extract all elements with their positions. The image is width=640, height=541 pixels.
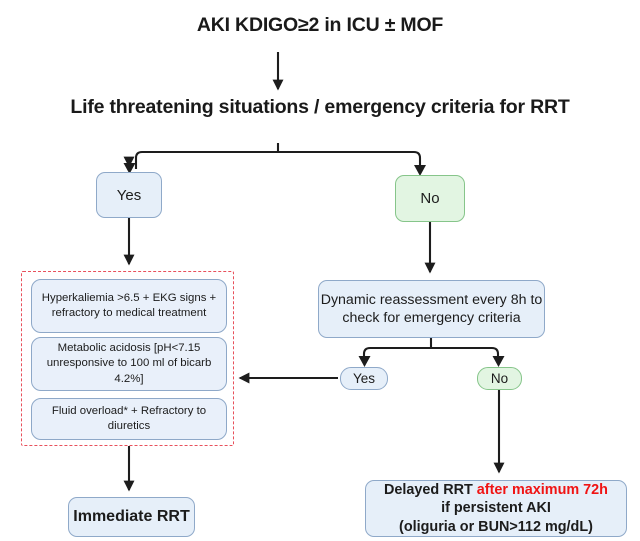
criteria-box-fluid-overload: Fluid overload* + Refractory to diuretic… [31,398,227,440]
delayed-rrt-part1: Delayed RRT [384,482,477,498]
criteria-box-hyperkaliemia: Hyperkaliemia >6.5 + EKG signs + refract… [31,279,227,333]
criteria-box-metabolic-acidosis: Metabolic acidosis [pH<7.15 unresponsive… [31,337,227,391]
delayed-rrt-part2: if persistent AKI [441,500,551,516]
flowchart-canvas: AKI KDIGO≥2 in ICU ± MOF Life threatenin… [0,0,640,541]
decision-no-upper-label: No [420,190,439,207]
criteria-label: Fluid overload* + Refractory to diuretic… [38,404,220,434]
decision-question: Life threatening situations / emergency … [70,96,570,119]
decision-no-lower-label: No [491,371,508,386]
outcome-immediate-rrt: Immediate RRT [68,497,195,537]
outcome-delayed-rrt: Delayed RRT after maximum 72h if persist… [365,480,627,537]
criteria-label: Hyperkaliemia >6.5 + EKG signs + refract… [38,291,220,321]
decision-yes-upper[interactable]: Yes [96,172,162,218]
delayed-rrt-highlight: after maximum 72h [477,482,608,498]
decision-yes-upper-label: Yes [117,187,141,204]
decision-yes-lower[interactable]: Yes [340,367,388,390]
outcome-delayed-rrt-text: Delayed RRT after maximum 72h if persist… [384,481,608,536]
decision-no-upper[interactable]: No [395,175,465,222]
delayed-rrt-part3: (oliguria or BUN>112 mg/dL) [399,519,593,535]
dynamic-reassessment-box: Dynamic reassessment every 8h to check f… [318,280,545,338]
decision-no-lower[interactable]: No [477,367,522,390]
decision-yes-lower-label: Yes [353,371,375,386]
page-title: AKI KDIGO≥2 in ICU ± MOF [0,14,640,37]
dynamic-reassessment-label: Dynamic reassessment every 8h to check f… [319,291,544,327]
outcome-immediate-rrt-label: Immediate RRT [73,508,189,526]
criteria-label: Metabolic acidosis [pH<7.15 unresponsive… [38,341,220,386]
